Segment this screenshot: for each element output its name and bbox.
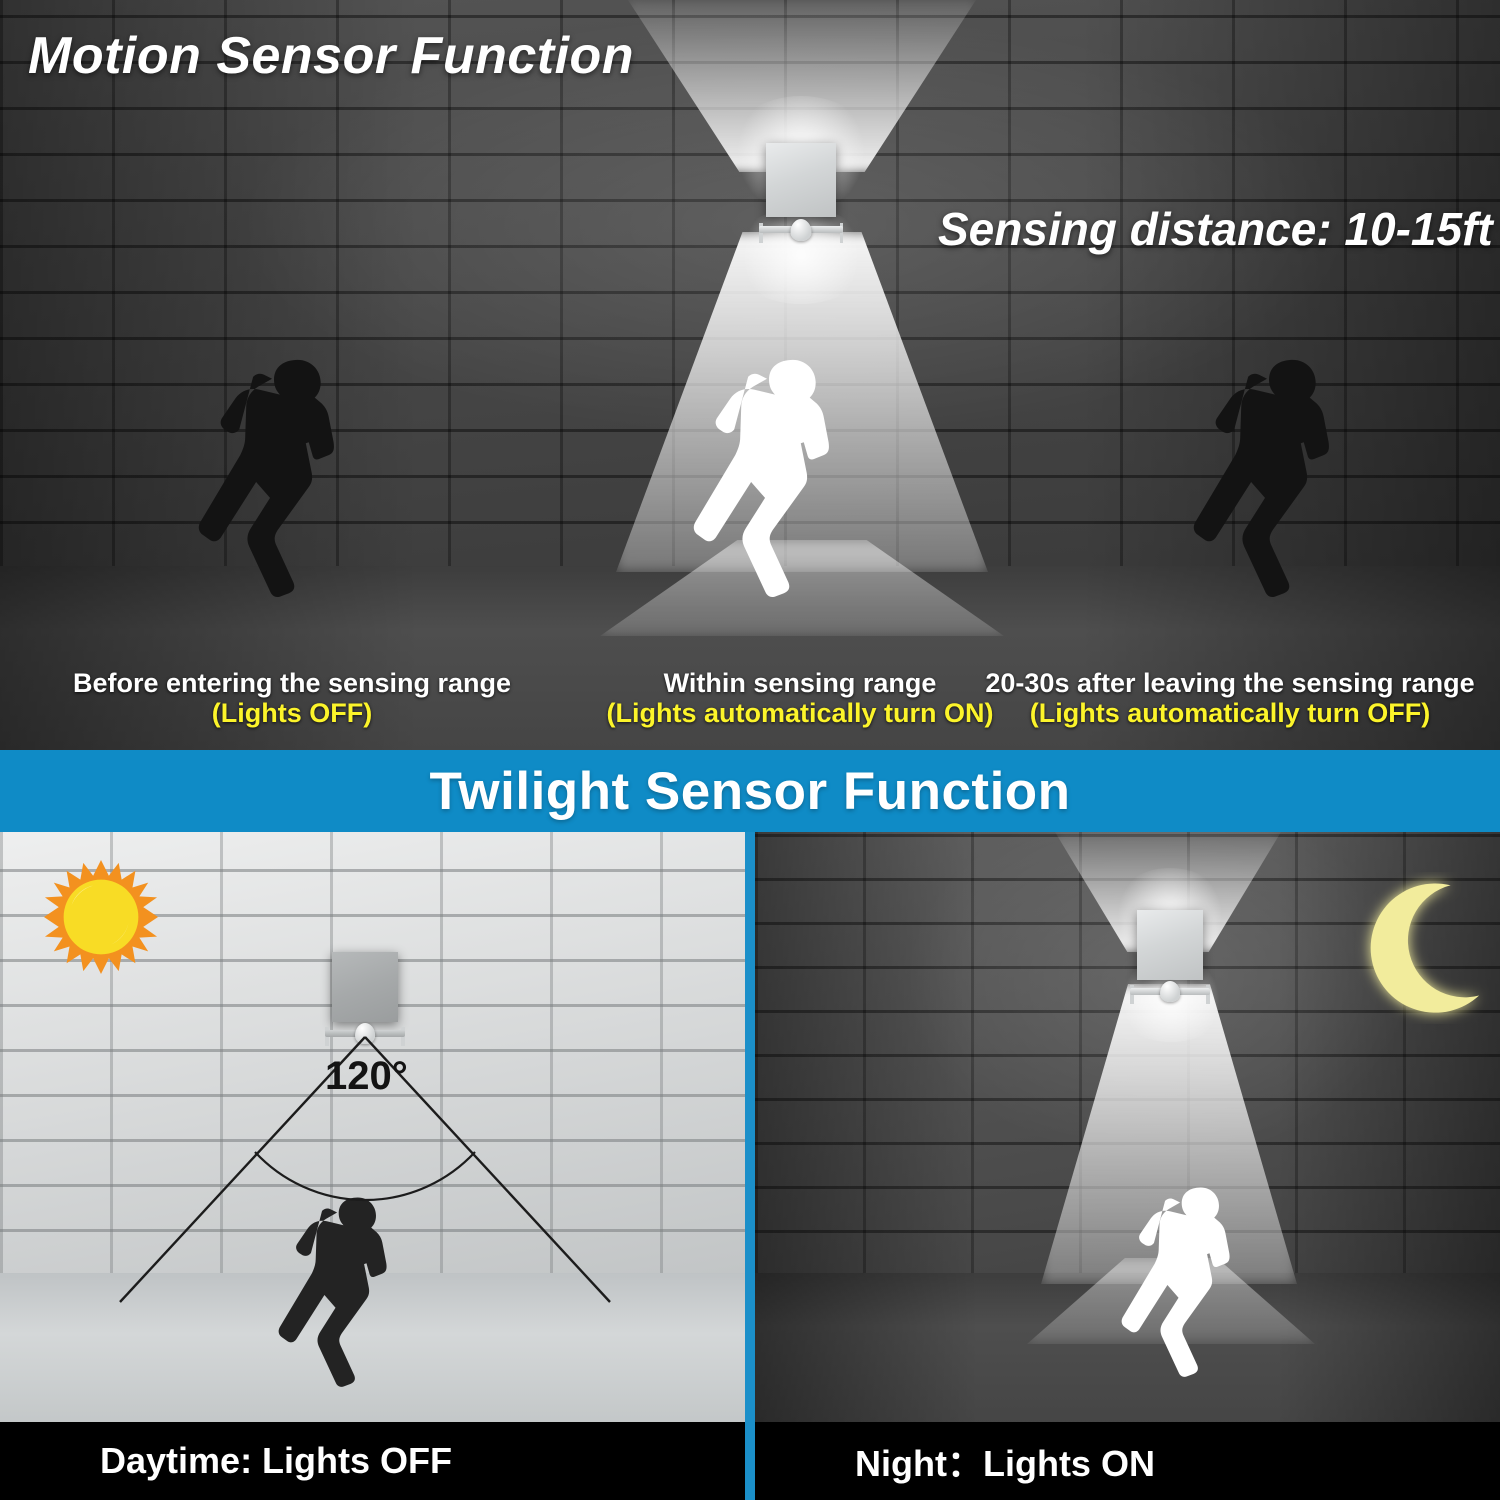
runner-daytime — [252, 1180, 427, 1410]
motion-sensor-section: Motion Sensor Function Sensing distance:… — [0, 0, 1500, 750]
lamp-body-night — [1137, 910, 1203, 980]
twilight-banner-title: Twilight Sensor Function — [429, 761, 1070, 822]
wall-lamp-fixture-night — [1137, 910, 1203, 1004]
runner-before-range — [165, 338, 385, 626]
sensing-distance-label: Sensing distance: 10-15ft — [938, 202, 1493, 256]
daytime-caption: Daytime: Lights OFF — [100, 1440, 452, 1482]
stage-caption-after-line2: (Lights automatically turn OFF) — [960, 698, 1500, 728]
runner-within-range — [660, 338, 880, 626]
product-infographic: Motion Sensor Function Sensing distance:… — [0, 0, 1500, 1500]
stage-caption-before: Before entering the sensing range (Light… — [0, 668, 584, 728]
lamp-body-day — [332, 952, 398, 1022]
stage-caption-before-line2: (Lights OFF) — [0, 698, 584, 728]
stage-caption-after: 20-30s after leaving the sensing range (… — [960, 668, 1500, 728]
night-caption-cell: Night：Lights ON — [755, 1422, 1500, 1500]
runner-after-leaving — [1160, 338, 1380, 626]
stage-caption-after-line1: 20-30s after leaving the sensing range — [960, 668, 1500, 698]
pir-sensor-dome-night — [1160, 981, 1180, 1002]
twilight-banner: Twilight Sensor Function — [0, 750, 1500, 832]
page-title: Motion Sensor Function — [28, 26, 634, 86]
wall-lamp-fixture — [766, 143, 836, 243]
twilight-sensor-section: 120° — [0, 832, 1500, 1500]
night-caption: Night：Lights ON — [855, 1435, 1155, 1487]
lamp-body — [766, 143, 836, 217]
pir-sensor-dome-day — [355, 1023, 375, 1044]
panel-divider — [745, 832, 755, 1500]
sun-icon — [42, 858, 160, 976]
stage-caption-before-line1: Before entering the sensing range — [0, 668, 584, 698]
moon-icon — [1348, 872, 1500, 1024]
daytime-caption-cell: Daytime: Lights OFF — [0, 1422, 745, 1500]
runner-night — [1095, 1170, 1270, 1400]
pir-sensor-dome — [791, 219, 812, 241]
wall-lamp-fixture-day — [332, 952, 398, 1046]
sensing-angle-label: 120° — [325, 1054, 408, 1099]
